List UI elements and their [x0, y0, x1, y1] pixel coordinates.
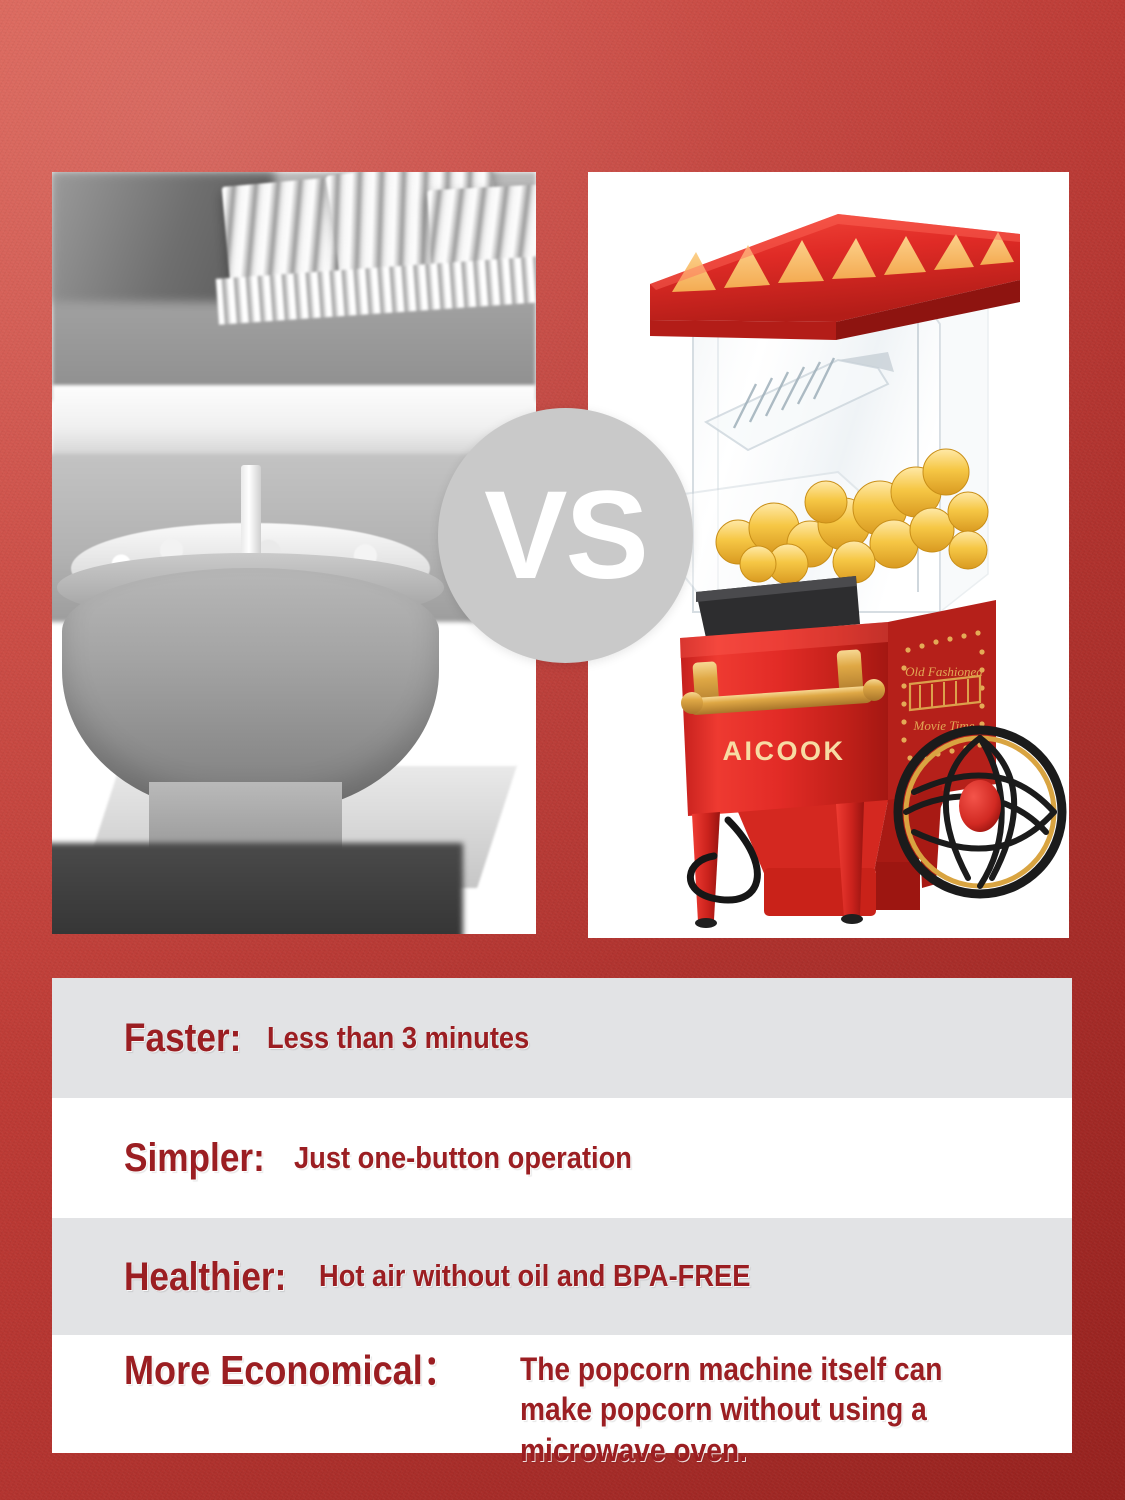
feature-label-faster: Faster: [124, 1017, 241, 1059]
feature-row-healthier: Healthier: Hot air without oil and BPA-F… [52, 1218, 1072, 1335]
feature-value-simpler: Just one-button operation [294, 1142, 632, 1175]
feature-label-healthier: Healthier: [124, 1256, 286, 1298]
brand-label: AICOOK [723, 736, 846, 766]
feature-list-panel: Faster: Less than 3 minutes Simpler: Jus… [52, 978, 1072, 1453]
foreground-shadow [52, 843, 463, 934]
feature-value-healthier: Hot air without oil and BPA-FREE [319, 1260, 750, 1293]
feature-value-faster: Less than 3 minutes [267, 1022, 529, 1055]
vs-badge: VS [438, 408, 693, 663]
bowl-center-stem [241, 465, 261, 556]
feature-label-economical: More Economical： [124, 1349, 459, 1392]
feature-label-simpler: Simpler: [124, 1137, 265, 1179]
counter-edge [52, 385, 536, 461]
vs-label: VS [484, 473, 647, 598]
silicone-popcorn-bowl [62, 568, 440, 812]
infographic-root: AICOOK [0, 0, 1125, 1500]
feature-value-economical: The popcorn machine itself can make popc… [520, 1349, 982, 1470]
feature-row-faster: Faster: Less than 3 minutes [52, 978, 1072, 1098]
feature-row-economical: More Economical： The popcorn machine its… [52, 1335, 1072, 1453]
feature-row-simpler: Simpler: Just one-button operation [52, 1098, 1072, 1218]
